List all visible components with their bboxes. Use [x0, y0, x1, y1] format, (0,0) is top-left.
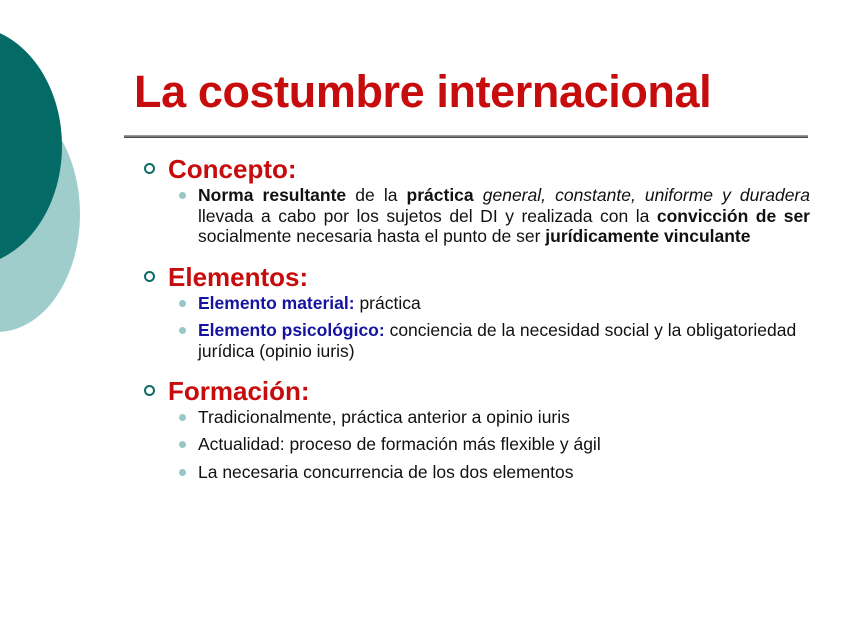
filled-dot-bullet-icon: [179, 327, 186, 334]
title-divider-rule: [124, 135, 808, 138]
filled-dot-bullet-icon: [179, 300, 186, 307]
section-heading-concepto: Concepto:: [140, 154, 810, 184]
hollow-circle-bullet-icon: [144, 163, 155, 174]
section-concepto: Concepto: Norma resultante de la práctic…: [140, 154, 810, 247]
list-item-text: Elemento psicológico: conciencia de la n…: [198, 320, 796, 361]
slide-title: La costumbre internacional: [134, 65, 824, 119]
section-heading-label: Elementos:: [168, 262, 308, 292]
section-heading-elementos: Elementos:: [140, 262, 810, 292]
list-item-text: La necesaria concurrencia de los dos ele…: [198, 462, 574, 482]
hollow-circle-bullet-icon: [144, 385, 155, 396]
list-item: La necesaria concurrencia de los dos ele…: [140, 462, 810, 483]
section-heading-formacion: Formación:: [140, 376, 810, 406]
filled-dot-bullet-icon: [179, 414, 186, 421]
filled-dot-bullet-icon: [179, 441, 186, 448]
list-item: Elemento psicológico: conciencia de la n…: [140, 320, 810, 361]
list-item-text: Tradicionalmente, práctica anterior a op…: [198, 407, 570, 427]
filled-dot-bullet-icon: [179, 192, 186, 199]
hollow-circle-bullet-icon: [144, 271, 155, 282]
section-elementos: Elementos: Elemento material: práctica E…: [140, 262, 810, 362]
slide-body: Concepto: Norma resultante de la práctic…: [140, 150, 810, 482]
list-item: Norma resultante de la práctica general,…: [140, 185, 810, 247]
list-item: Actualidad: proceso de formación más fle…: [140, 434, 810, 455]
list-item: Tradicionalmente, práctica anterior a op…: [140, 407, 810, 428]
section-formacion: Formación: Tradicionalmente, práctica an…: [140, 376, 810, 483]
presentation-slide: La costumbre internacional Concepto: Nor…: [0, 0, 848, 636]
list-item: Elemento material: práctica: [140, 293, 810, 314]
list-item-text: Elemento material: práctica: [198, 293, 421, 313]
list-item-text: Actualidad: proceso de formación más fle…: [198, 434, 601, 454]
section-heading-label: Concepto:: [168, 154, 297, 184]
section-heading-label: Formación:: [168, 376, 310, 406]
filled-dot-bullet-icon: [179, 469, 186, 476]
list-item-text: Norma resultante de la práctica general,…: [198, 185, 810, 247]
